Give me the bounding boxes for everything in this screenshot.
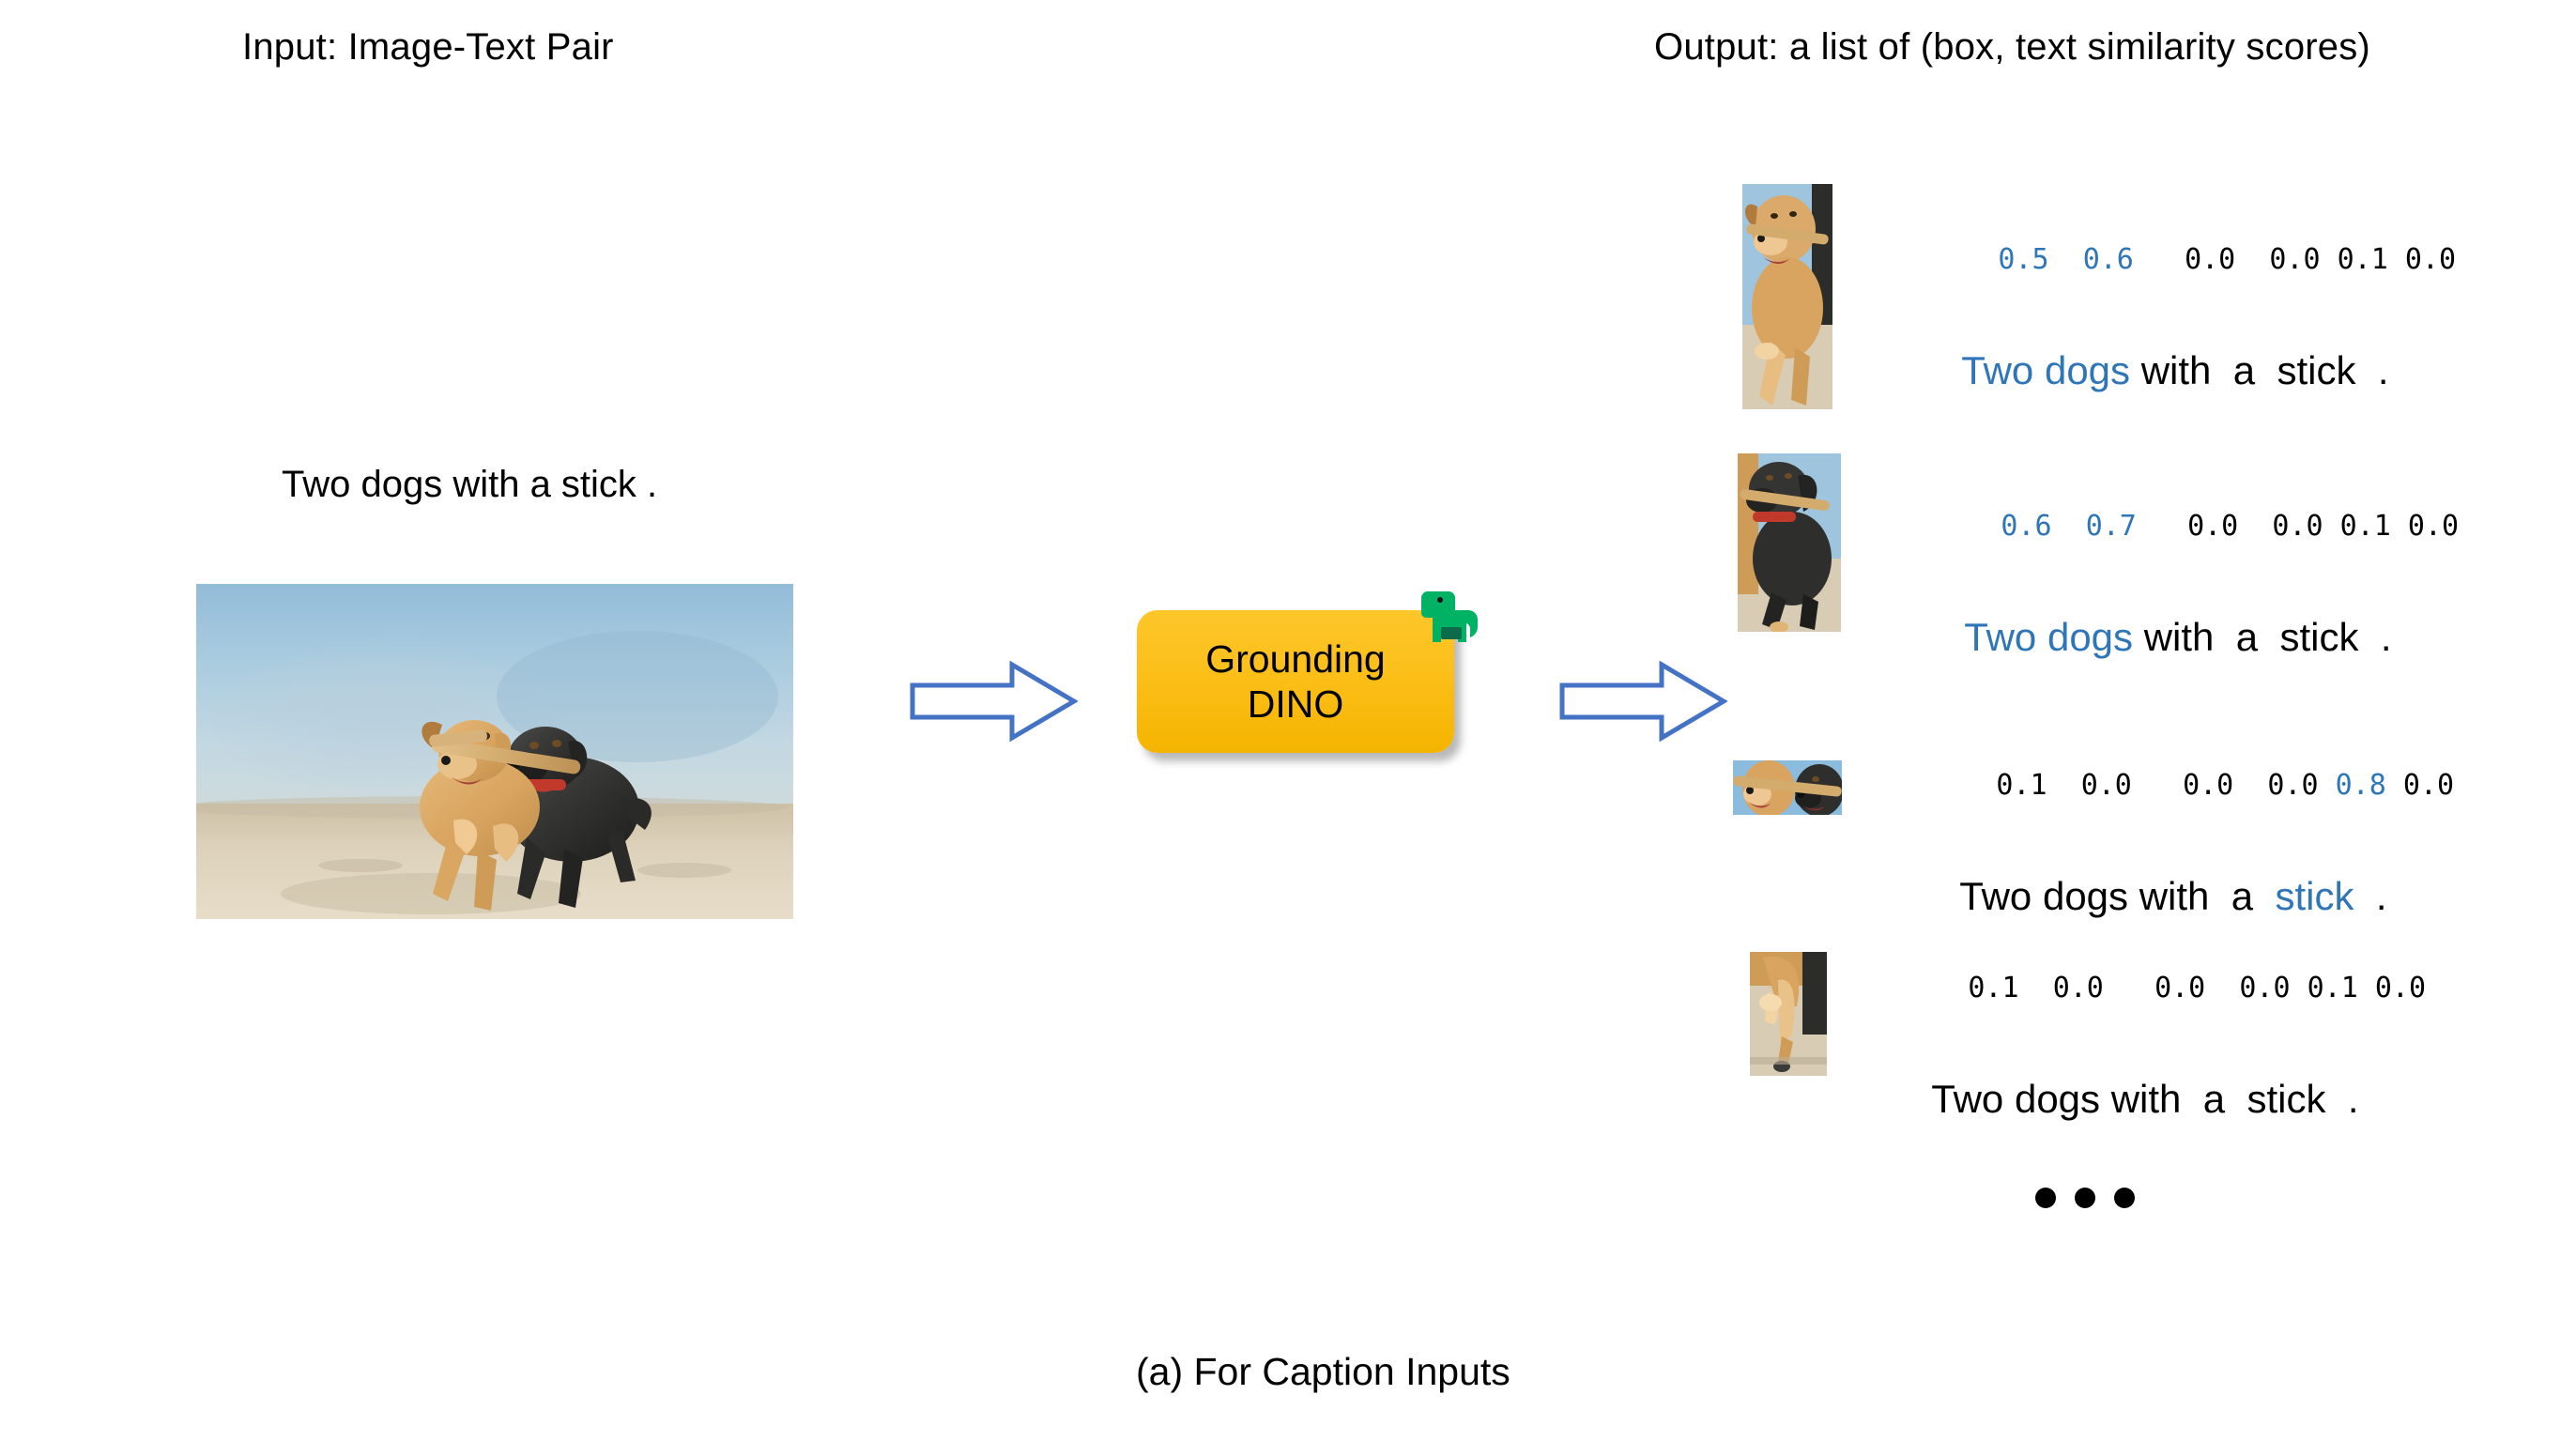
crop-black-dog [1738, 453, 1841, 632]
token-sequence: Two dogs with a stick . [1866, 1040, 2426, 1158]
score-cell: 0.0 [2272, 510, 2323, 543]
token: . [2381, 615, 2392, 659]
token: stick [2279, 615, 2358, 659]
score-cell: 0.1 [2340, 510, 2391, 543]
score-cell: 0.0 [2269, 243, 2320, 276]
similarity-scores: 0.1 0.0 0.0 0.0 0.8 0.0 [1894, 743, 2454, 828]
token-sequence: Two dogs with a stick . [1899, 578, 2459, 697]
beach-dogs-photo [196, 584, 793, 919]
grounding-dino-box[interactable]: Grounding DINO [1137, 610, 1454, 753]
token: . [2376, 874, 2387, 918]
input-section-title: Input: Image-Text Pair [242, 26, 614, 69]
input-image [196, 584, 793, 919]
arrow-input-to-model [909, 659, 1078, 743]
score-cell: 0.1 [1968, 972, 2018, 1004]
score-cell: 0.0 [2185, 243, 2235, 276]
token-sequence: Two dogs with a stick . [1894, 837, 2454, 956]
score-cell: 0.0 [2239, 972, 2290, 1004]
score-cell: 0.0 [2375, 972, 2426, 1004]
score-cell: 0.0 [2405, 243, 2456, 276]
crop-dog-legs [1750, 952, 1827, 1076]
model-name-line1: Grounding [1205, 636, 1385, 682]
crop-stick [1733, 760, 1842, 815]
score-cell: 0.0 [2154, 972, 2205, 1004]
similarity-scores: 0.1 0.0 0.0 0.0 0.1 0.0 [1866, 946, 2426, 1031]
output-row: 0.1 0.0 0.0 0.0 0.8 0.0 Two dogs with a … [1733, 743, 2454, 956]
token: a [2236, 615, 2258, 659]
token: with [2111, 1077, 2182, 1121]
detection-thumbnail [1733, 760, 1842, 815]
score-cell: 0.5 [1998, 243, 2048, 276]
detection-thumbnail [1738, 453, 1841, 632]
score-cell: 0.0 [2408, 510, 2459, 543]
detection-thumbnail [1750, 952, 1827, 1076]
arrow-right-icon [1558, 659, 1727, 743]
token: a [2233, 348, 2255, 392]
score-cell: 0.6 [2001, 510, 2051, 543]
crop-tan-dog [1742, 184, 1832, 409]
dinosaur-icon [1413, 582, 1488, 650]
token: Two [1964, 615, 2036, 659]
token: dogs [2043, 874, 2128, 918]
token: Two [1961, 348, 2033, 392]
token: . [2348, 1077, 2359, 1121]
ellipsis-dot [2114, 1188, 2135, 1208]
token: stick [2275, 874, 2354, 918]
token: Two [1959, 874, 2032, 918]
output-row: 0.5 0.6 0.0 0.0 0.1 0.0 Two dogs with a … [1742, 184, 2456, 430]
token: stick [2246, 1077, 2325, 1121]
arrow-model-to-output [1558, 659, 1727, 743]
score-cell: 0.0 [2187, 510, 2238, 543]
score-cell: 0.0 [2267, 769, 2318, 802]
ellipsis-dot [2075, 1188, 2095, 1208]
token: dogs [2045, 348, 2130, 392]
token: dogs [2047, 615, 2133, 659]
more-results-ellipsis [2035, 1188, 2135, 1208]
output-row: 0.1 0.0 0.0 0.0 0.1 0.0 Two dogs with a … [1750, 952, 2426, 1158]
output-section-title: Output: a list of (box, text similarity … [1654, 26, 2370, 69]
score-cell: 0.0 [2183, 769, 2233, 802]
token: with [2141, 348, 2212, 392]
score-cell: 0.0 [2403, 769, 2454, 802]
output-row: 0.6 0.7 0.0 0.0 0.1 0.0 Two dogs with a … [1738, 453, 2459, 697]
similarity-scores: 0.5 0.6 0.0 0.0 0.1 0.0 [1896, 218, 2456, 302]
arrow-right-icon [909, 659, 1078, 743]
token: dogs [2015, 1077, 2100, 1121]
score-cell: 0.8 [2336, 769, 2386, 802]
score-cell: 0.0 [2081, 769, 2132, 802]
input-caption-text: Two dogs with a stick . [282, 464, 657, 506]
ellipsis-dot [2035, 1188, 2056, 1208]
score-cell: 0.1 [2338, 243, 2388, 276]
token-sequence: Two dogs with a stick . [1896, 312, 2456, 430]
token: with [2144, 615, 2215, 659]
score-cell: 0.7 [2086, 510, 2137, 543]
detection-thumbnail [1742, 184, 1832, 409]
score-cell: 0.0 [2053, 972, 2104, 1004]
token: Two [1931, 1077, 2003, 1121]
similarity-scores: 0.6 0.7 0.0 0.0 0.1 0.0 [1899, 484, 2459, 569]
score-cell: 0.1 [2308, 972, 2358, 1004]
token: with [2139, 874, 2210, 918]
score-cell: 0.6 [2083, 243, 2134, 276]
token: a [2203, 1077, 2225, 1121]
token: stick [2277, 348, 2355, 392]
model-name-line2: DINO [1248, 682, 1344, 727]
dinosaur-glyph [1413, 582, 1488, 650]
score-cell: 0.1 [1996, 769, 2047, 802]
token: a [2231, 874, 2253, 918]
token: . [2378, 348, 2389, 392]
figure-caption: (a) For Caption Inputs [1136, 1350, 1510, 1394]
